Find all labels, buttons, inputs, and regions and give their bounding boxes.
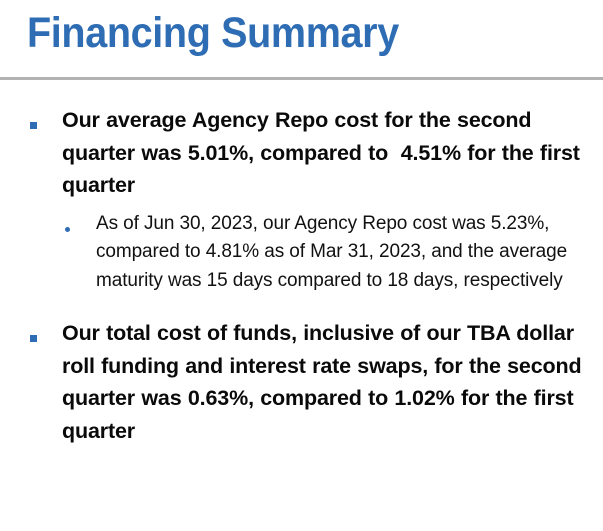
sub-bullet-item-1-text: As of Jun 30, 2023, our Agency Repo cost… xyxy=(96,210,603,296)
page-title: Financing Summary xyxy=(27,8,399,58)
slide-body: Our average Agency Repo cost for the sec… xyxy=(0,104,603,453)
bullet-spacer xyxy=(0,307,603,317)
slide-financing-summary: Financing Summary Our average Agency Rep… xyxy=(0,0,603,531)
square-bullet-icon xyxy=(30,122,37,129)
bullet-item-2-text: Our total cost of funds, inclusive of ou… xyxy=(62,317,603,447)
slide-header: Financing Summary xyxy=(0,0,603,80)
bullet-item-1: Our average Agency Repo cost for the sec… xyxy=(0,104,603,202)
bullet-item-1-text: Our average Agency Repo cost for the sec… xyxy=(62,104,603,202)
title-divider xyxy=(0,77,603,80)
dot-bullet-icon xyxy=(65,227,70,232)
bullet-item-2: Our total cost of funds, inclusive of ou… xyxy=(0,317,603,447)
square-bullet-icon xyxy=(30,335,37,342)
sub-bullet-item-1: As of Jun 30, 2023, our Agency Repo cost… xyxy=(0,210,603,296)
